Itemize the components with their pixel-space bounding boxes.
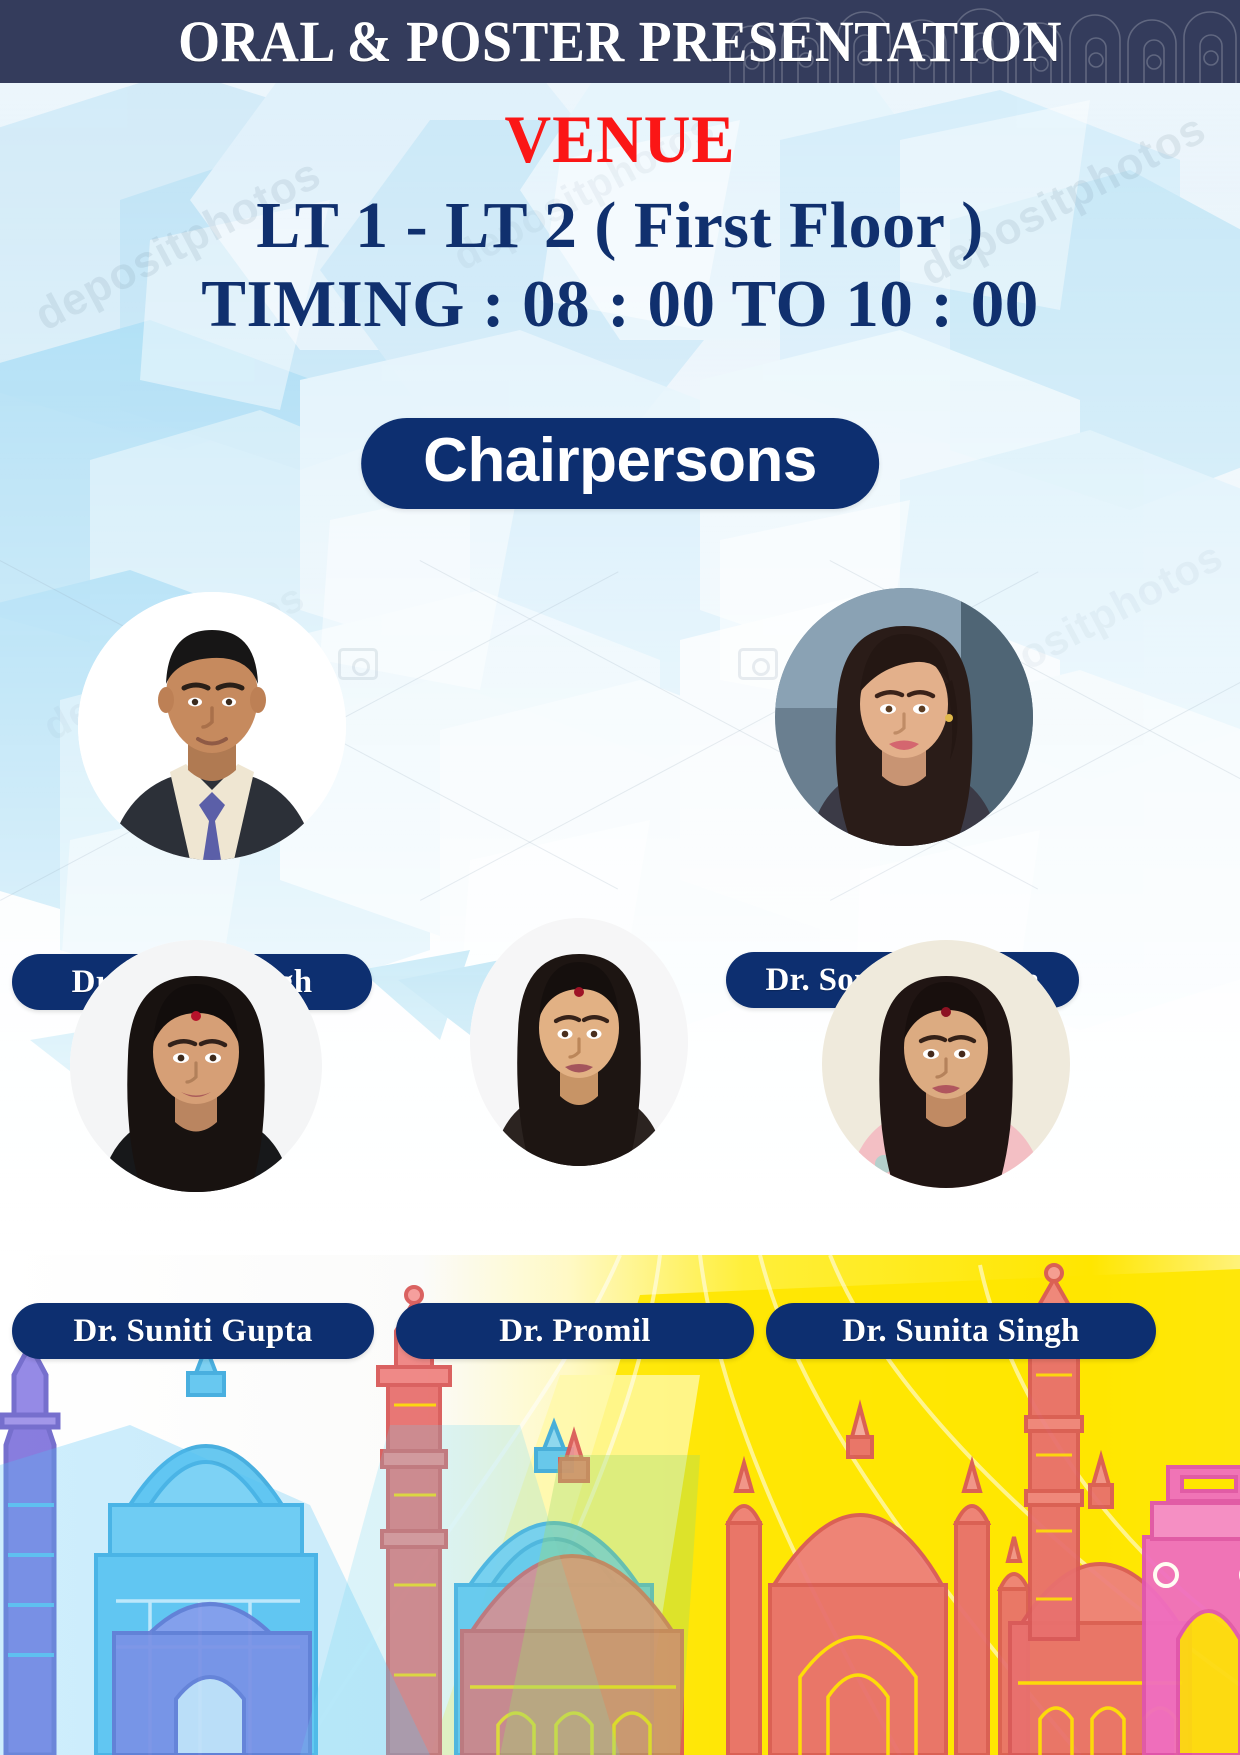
venue-location: LT 1 - LT 2 ( First Floor ) bbox=[0, 187, 1240, 265]
avatar bbox=[78, 592, 346, 860]
header-bar: ORAL & POSTER PRESENTATION bbox=[0, 0, 1240, 83]
name-badge: Dr. Promil bbox=[396, 1303, 754, 1359]
venue-timing: TIMING : 08 : 00 TO 10 : 00 bbox=[0, 267, 1240, 342]
portrait-woman-bindi-icon bbox=[470, 918, 688, 1166]
portrait-woman-long-hair-icon bbox=[775, 588, 1033, 846]
chairperson-name: Dr. Promil bbox=[473, 1313, 676, 1350]
portrait-woman-saree-icon bbox=[822, 940, 1070, 1188]
avatar bbox=[775, 588, 1033, 846]
chairperson-name: Dr. Suniti Gupta bbox=[47, 1313, 338, 1350]
chairpersons-heading-pill: Chairpersons bbox=[361, 418, 879, 509]
venue-block: VENUE LT 1 - LT 2 ( First Floor ) TIMING… bbox=[0, 105, 1240, 342]
portrait-woman-black-top-icon bbox=[70, 940, 322, 1192]
name-badge: Dr. Sunita Singh bbox=[766, 1303, 1156, 1359]
portrait-man-suit-tie-icon bbox=[78, 592, 346, 860]
poster-canvas: depositphotos depositphotos depositphoto… bbox=[0, 0, 1240, 1755]
avatar bbox=[822, 940, 1070, 1188]
chairperson-name: Dr. Sunita Singh bbox=[816, 1313, 1105, 1350]
avatar bbox=[70, 940, 322, 1192]
venue-label: VENUE bbox=[31, 105, 1209, 173]
chairpersons-heading-label: Chairpersons bbox=[423, 428, 817, 493]
avatar bbox=[470, 918, 688, 1166]
name-badge: Dr. Suniti Gupta bbox=[12, 1303, 374, 1359]
page-title: ORAL & POSTER PRESENTATION bbox=[43, 0, 1196, 83]
